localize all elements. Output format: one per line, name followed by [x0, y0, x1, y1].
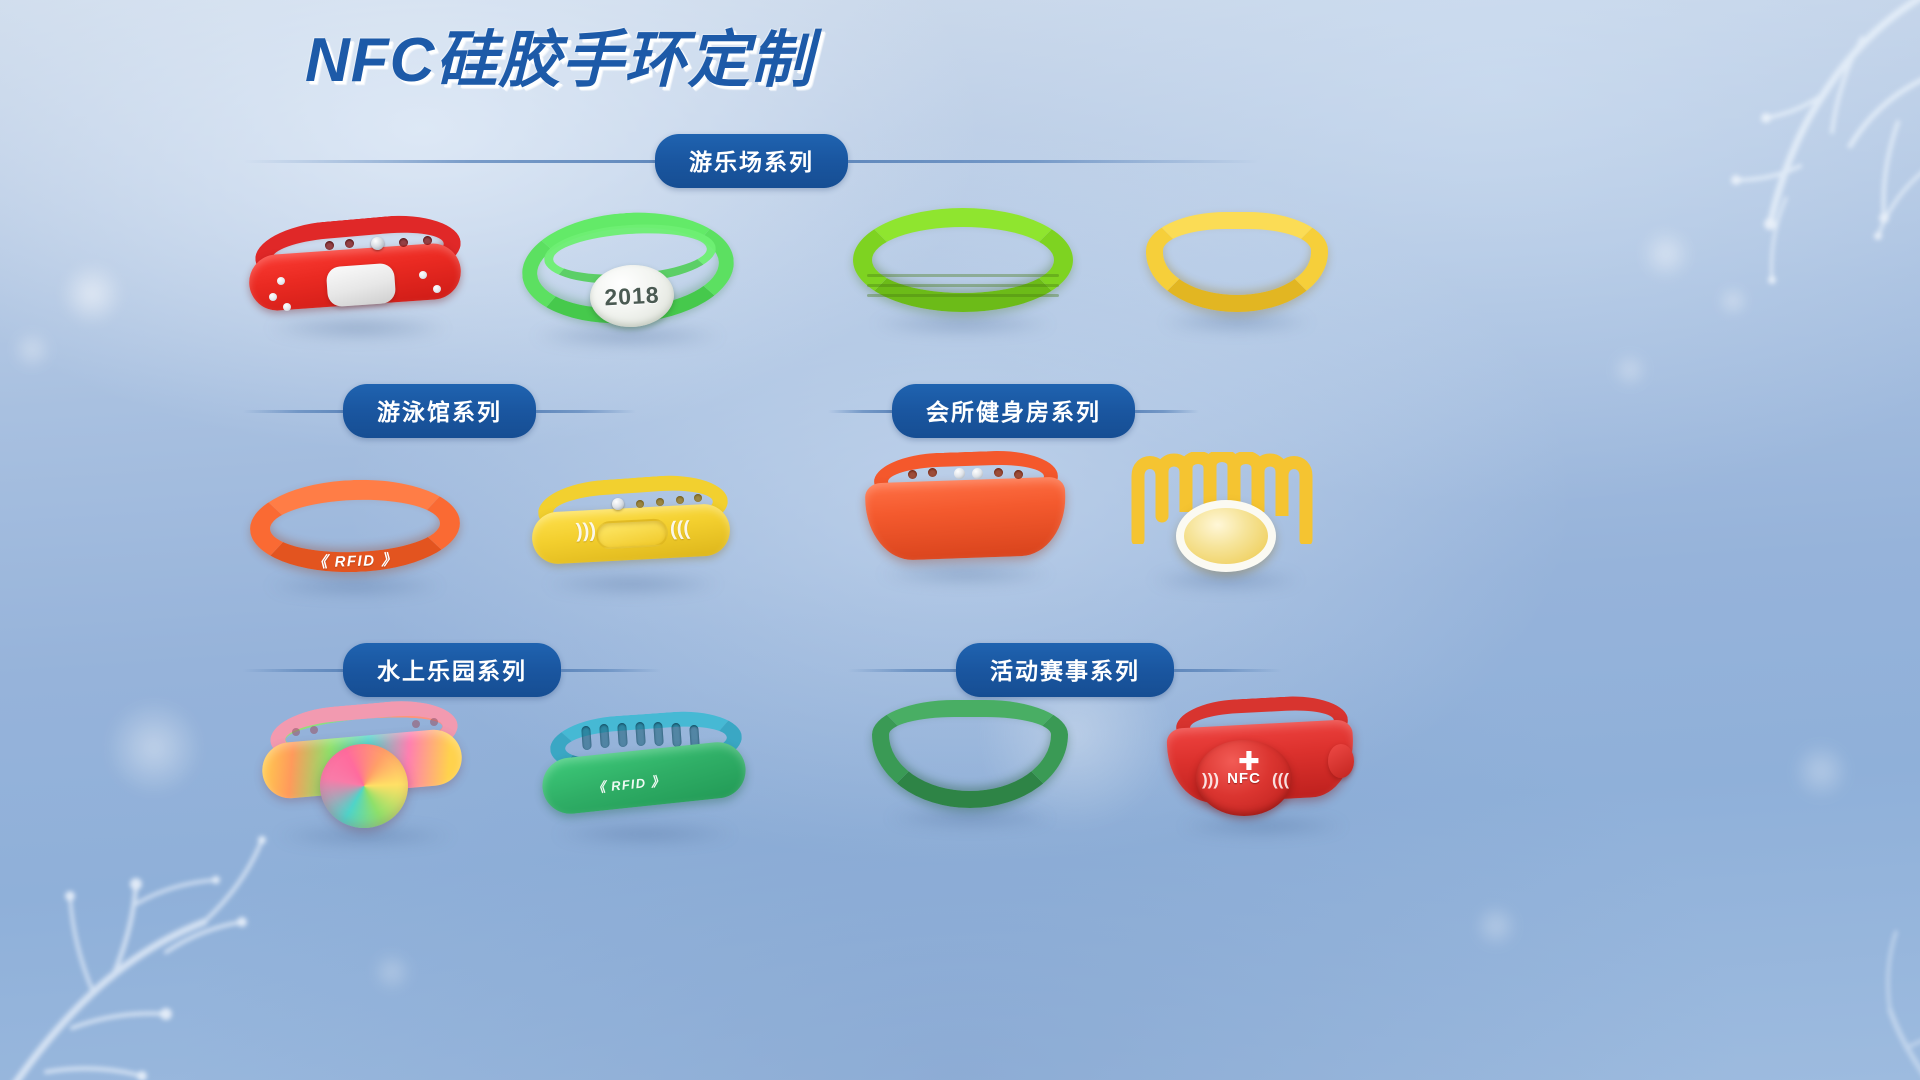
bokeh-light — [106, 700, 202, 796]
product-shadow — [268, 317, 448, 339]
bokeh-light — [1792, 742, 1850, 800]
nfc-chip-tag — [326, 263, 397, 308]
product-shadow — [555, 824, 735, 844]
band-ring — [872, 700, 1068, 808]
product-darkgreen-closed-wristband[interactable] — [872, 700, 1068, 820]
banner-line-right — [1135, 410, 1199, 413]
product-red-adjustable-wristband[interactable] — [243, 205, 473, 340]
banner-line-right — [848, 160, 1260, 163]
band-groove — [867, 274, 1059, 277]
strap-slot — [581, 726, 592, 751]
product-shadow — [880, 564, 1052, 584]
section-label-events[interactable]: 活动赛事系列 — [956, 643, 1174, 697]
product-shadow — [1162, 312, 1312, 332]
banner-line-left — [243, 160, 655, 163]
frosted-branch-bottom-left — [0, 776, 306, 1080]
banner-line-left — [243, 669, 343, 672]
section-label-water-park[interactable]: 水上乐园系列 — [343, 643, 561, 697]
strap-hole — [676, 496, 684, 504]
strap-pin — [269, 293, 277, 301]
section-label-amusement-park[interactable]: 游乐场系列 — [655, 134, 848, 188]
banner-line-left — [828, 410, 892, 413]
strap-slot — [599, 724, 610, 749]
bokeh-light — [1612, 352, 1648, 388]
bokeh-light — [1474, 904, 1518, 948]
disc-label: 2018 — [604, 281, 661, 311]
product-shadow — [1151, 570, 1301, 590]
page-title: NFC硅胶手环定制 — [305, 28, 813, 93]
strap-hole — [928, 468, 937, 477]
watch-face — [1176, 500, 1276, 572]
strap-pin — [433, 285, 441, 293]
banner-line-right — [561, 669, 661, 672]
section-label-club-gym[interactable]: 会所健身房系列 — [892, 384, 1135, 438]
strap-hole — [694, 494, 702, 502]
signal-wave-icon: ))) — [1202, 770, 1219, 790]
product-shadow — [533, 325, 723, 347]
product-yellow-nfc-wristband[interactable]: ))) ((( — [528, 470, 738, 595]
strap-hole — [345, 239, 354, 248]
signal-wave-icon: ))) — [575, 519, 596, 543]
bokeh-light — [12, 330, 52, 370]
product-red-nfc-medical-wristband[interactable]: NFC ✚ ))) ((( — [1168, 698, 1358, 833]
strap-hole — [399, 238, 408, 247]
product-shadow — [546, 574, 721, 594]
section-header-amusement-park: 游乐场系列 — [243, 134, 1315, 188]
strap-hole — [636, 500, 644, 508]
title-container: NFC硅胶手环定制 — [305, 28, 813, 93]
banner-line-right — [536, 410, 636, 413]
strap-slot — [635, 722, 646, 747]
strap-stud — [954, 468, 965, 479]
banner-line-left — [848, 669, 956, 672]
band-groove — [867, 284, 1059, 287]
bokeh-light — [60, 262, 124, 326]
section-header-swimming-pool: 游泳馆系列 — [243, 384, 745, 438]
section-header-club-gym: 会所健身房系列 — [828, 384, 1332, 438]
signal-wave-icon: ((( — [669, 517, 690, 541]
strap-hole — [656, 498, 664, 506]
strap-slot — [617, 723, 628, 748]
frosted-branch-top-right — [1630, 0, 1920, 300]
strap-hole — [908, 470, 917, 479]
medical-cross-icon: ✚ — [1238, 748, 1260, 774]
product-tiedye-wristband[interactable] — [262, 700, 467, 835]
disc-face — [320, 744, 408, 828]
product-shadow — [268, 576, 443, 596]
rfid-label: 《 RFID 》 — [312, 549, 398, 573]
strap-stud — [371, 237, 384, 250]
product-yellow-closed-wristband[interactable] — [1146, 212, 1328, 330]
product-shadow — [1181, 816, 1346, 836]
strap-pin — [283, 303, 291, 311]
banner-line-right — [1174, 669, 1282, 672]
section-header-water-park: 水上乐园系列 — [243, 643, 745, 697]
product-yellow-wavy-wristband[interactable] — [1128, 452, 1324, 582]
strap-hole — [310, 726, 318, 734]
nfc-window — [595, 518, 668, 550]
product-shadow — [873, 314, 1053, 334]
product-green-disc-wristband[interactable]: 2018 — [508, 205, 748, 345]
section-label-swimming-pool[interactable]: 游泳馆系列 — [343, 384, 536, 438]
product-shadow — [888, 808, 1053, 828]
bokeh-light — [372, 952, 412, 992]
section-header-events: 活动赛事系列 — [848, 643, 1350, 697]
product-lime-closed-wristband[interactable] — [853, 208, 1073, 328]
bokeh-light — [1718, 286, 1748, 316]
strap-slot — [671, 723, 682, 748]
strap-stud — [612, 498, 624, 510]
strap-stud — [972, 468, 983, 479]
strap-hole — [430, 718, 438, 726]
strap-hole — [1014, 470, 1023, 479]
strap-front — [865, 477, 1068, 562]
product-shadow — [276, 826, 454, 846]
product-orangered-wide-wristband[interactable] — [866, 452, 1066, 577]
bokeh-light — [1640, 228, 1692, 280]
strap-hole — [325, 241, 334, 250]
poster-canvas: NFC硅胶手环定制 游乐场系列 2018 — [0, 0, 1920, 1080]
product-orange-rfid-wristband[interactable]: 《 RFID 》 — [250, 480, 460, 590]
frosted-branch-bottom-right — [1740, 900, 1920, 1080]
strap-hole — [423, 236, 432, 245]
strap-hole — [994, 468, 1003, 477]
signal-wave-icon: ((( — [1272, 770, 1289, 790]
band-groove — [867, 294, 1059, 297]
strap-hole — [412, 720, 420, 728]
product-tealgreen-rfid-wristband[interactable]: 《 RFID 》 — [540, 712, 750, 837]
band-ring — [1146, 212, 1328, 312]
strap-slot — [653, 722, 664, 747]
strap-pin — [419, 271, 427, 279]
strap-knob — [1328, 744, 1354, 778]
strap-hole — [292, 728, 300, 736]
strap-pin — [277, 277, 285, 285]
banner-line-left — [243, 410, 343, 413]
